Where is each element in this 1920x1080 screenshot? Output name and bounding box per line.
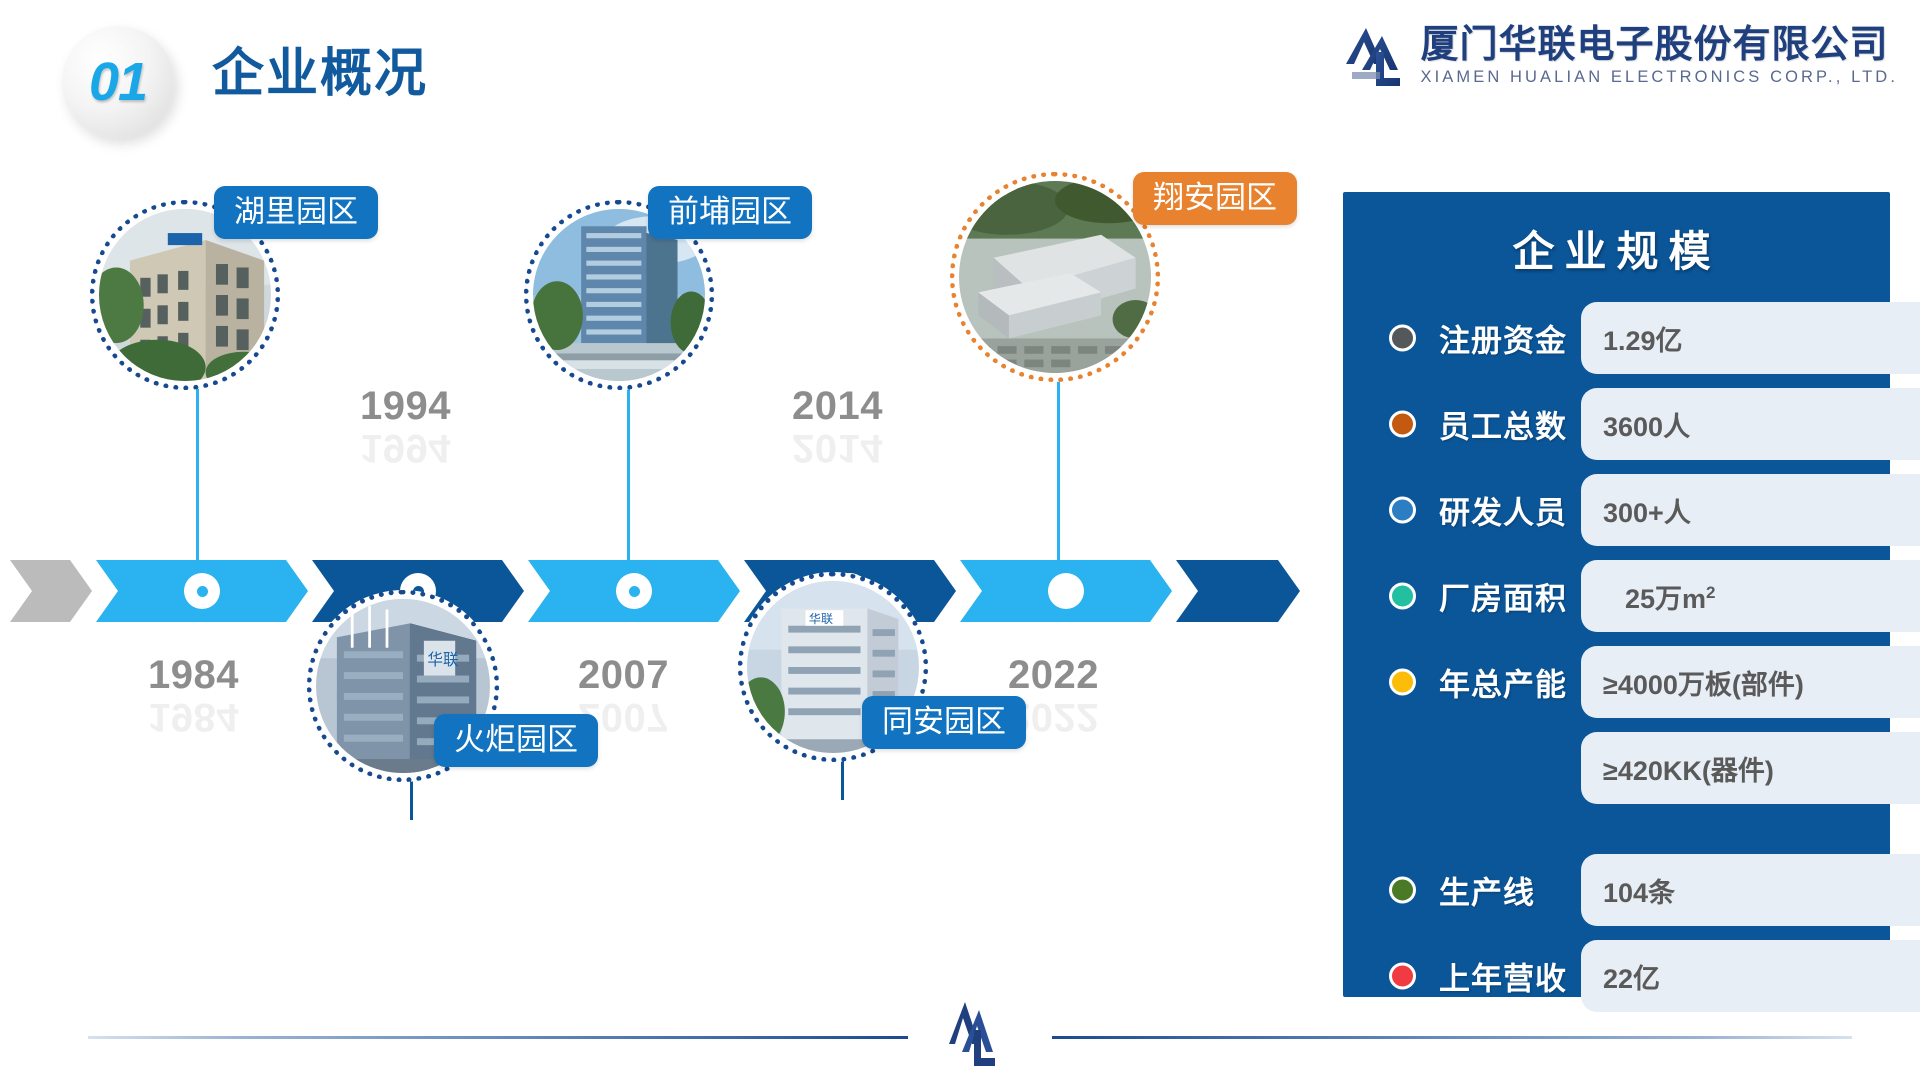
bullet-dot — [1389, 963, 1416, 990]
timeline-year-2007: 2007 — [578, 655, 669, 695]
company-scale-panel: 企业规模 注册资金 1.29亿 员工总数 3600人 研发人员 300+人 厂 — [1343, 192, 1890, 997]
connector-line-2022 — [1057, 370, 1060, 592]
timeline-year-2014: 2014 — [792, 386, 883, 426]
milestone-tag-2014[interactable]: 同安园区 — [862, 696, 1026, 749]
scale-value: 25万m2 — [1603, 577, 1716, 616]
scale-value-pill: 3600人 — [1581, 388, 1920, 460]
scale-value-pill: 1.29亿 — [1581, 302, 1920, 374]
scale-value: 1.29亿 — [1603, 319, 1683, 358]
slide-header: 01 企业概况 厦门华联电子股份有限公司 XIAMEN HUALIAN ELEC… — [0, 0, 1920, 150]
footer-rule-right — [1052, 1036, 1852, 1039]
hl-monogram-icon — [1346, 22, 1412, 92]
scale-label: 厂房面积 — [1439, 574, 1567, 619]
svg-text:华联: 华联 — [809, 611, 833, 626]
scale-value: 3600人 — [1603, 405, 1690, 444]
scale-value: 104条 — [1603, 871, 1675, 910]
scale-value: ≥420KK(器件) — [1603, 749, 1774, 788]
hl-monogram-icon — [948, 1000, 1004, 1072]
timeline-end-arrow — [1176, 560, 1300, 622]
scale-row-total-employees: 员工总数 3600人 — [1343, 381, 1890, 467]
scale-row-plant-area: 厂房面积 25万m2 — [1343, 553, 1890, 639]
scale-label: 注册资金 — [1439, 316, 1567, 361]
connector-line-1984 — [196, 384, 199, 564]
scale-label: 员工总数 — [1439, 402, 1567, 447]
timeline-chevron-1984[interactable] — [96, 560, 308, 622]
scale-label: 研发人员 — [1439, 488, 1567, 533]
bullet-dot — [1389, 325, 1416, 352]
timeline-node-2022 — [1048, 573, 1084, 609]
page-title: 企业概况 — [212, 48, 428, 100]
scale-value-pill: 300+人 — [1581, 474, 1920, 546]
milestone-tag-2022[interactable]: 翔安园区 — [1133, 172, 1297, 225]
section-number-badge: 01 — [62, 26, 174, 138]
bullet-dot — [1389, 669, 1416, 696]
footer-rule-left — [88, 1036, 908, 1039]
scale-row-production-lines: 生产线 104条 — [1343, 847, 1890, 933]
timeline-start-arrow — [10, 560, 92, 622]
bullet-dot — [1389, 877, 1416, 904]
corporate-logo: 厦门华联电子股份有限公司 XIAMEN HUALIAN ELECTRONICS … — [1346, 22, 1898, 92]
timeline-year-2022: 2022 — [1008, 655, 1099, 695]
bullet-dot — [1389, 497, 1416, 524]
connector-line-2007 — [627, 384, 630, 564]
scale-row-rd-staff: 研发人员 300+人 — [1343, 467, 1890, 553]
timeline-node-1984 — [184, 573, 220, 609]
section-number: 01 — [89, 55, 147, 109]
scale-row-annual-capacity: 年总产能 ≥4000万板(部件) — [1343, 639, 1890, 725]
scale-value-pill: ≥420KK(器件) — [1581, 732, 1920, 804]
scale-value: ≥4000万板(部件) — [1603, 663, 1804, 702]
milestone-tag-1984[interactable]: 湖里园区 — [214, 186, 378, 239]
timeline-section: 1984 1994 2007 2014 2022 — [0, 150, 1330, 980]
milestone-tag-2007[interactable]: 前埔园区 — [648, 186, 812, 239]
timeline-chevron-strip — [10, 560, 1300, 622]
bullet-dot — [1389, 583, 1416, 610]
timeline-chevron-2007[interactable] — [528, 560, 740, 622]
corporate-name-en: XIAMEN HUALIAN ELECTRONICS CORP., LTD. — [1420, 69, 1898, 86]
scale-label: 年总产能 — [1439, 660, 1567, 705]
scale-value-pill: ≥4000万板(部件) — [1581, 646, 1920, 718]
scale-row-annual-capacity-secondary: ≥420KK(器件) — [1343, 725, 1890, 811]
timeline-year-1994: 1994 — [360, 386, 451, 426]
svg-text:华联: 华联 — [427, 651, 459, 669]
timeline-chevron-2022[interactable] — [960, 560, 1172, 622]
timeline-year-1984: 1984 — [148, 655, 239, 695]
corporate-name-cn: 厦门华联电子股份有限公司 — [1420, 26, 1898, 64]
photo-image-2022 — [959, 181, 1151, 373]
bullet-dot — [1389, 411, 1416, 438]
milestone-tag-1994[interactable]: 火炬园区 — [434, 714, 598, 767]
scale-value-pill: 25万m2 — [1581, 560, 1920, 632]
slide-footer — [0, 990, 1920, 1080]
timeline-node-2007 — [616, 573, 652, 609]
scale-value-pill: 104条 — [1581, 854, 1920, 926]
scale-row-registered-capital: 注册资金 1.29亿 — [1343, 295, 1890, 381]
scale-label: 生产线 — [1439, 868, 1535, 913]
panel-title: 企业规模 — [1343, 218, 1890, 279]
milestone-photo-2022[interactable] — [950, 172, 1160, 382]
scale-rows: 注册资金 1.29亿 员工总数 3600人 研发人员 300+人 厂房面积 25… — [1343, 295, 1890, 1019]
scale-value: 300+人 — [1603, 491, 1691, 530]
